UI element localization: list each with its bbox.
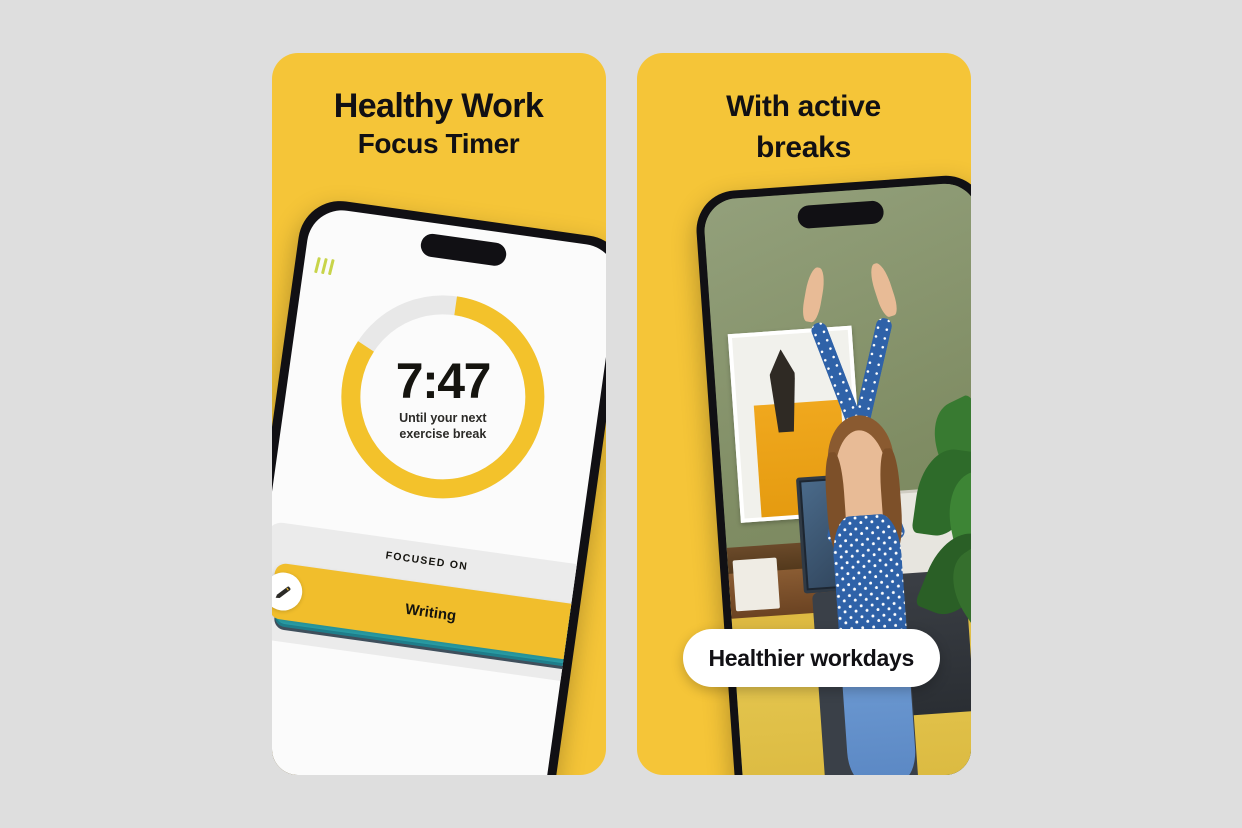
caption-text: Healthier workdays bbox=[709, 645, 915, 672]
timer-subtitle-line-1: Until your next bbox=[399, 411, 487, 426]
headline-line-2: breaks bbox=[637, 127, 971, 168]
screenshot-stage: Healthy Work Focus Timer 7:47 bbox=[0, 0, 1242, 828]
card-active-breaks[interactable]: With active breaks bbox=[637, 53, 971, 775]
focused-on-panel: FOCUSED ON Writing bbox=[272, 521, 591, 683]
headline-line-1: With active bbox=[637, 86, 971, 127]
headline-line-1: Healthy Work bbox=[272, 86, 606, 126]
card-focus-timer[interactable]: Healthy Work Focus Timer 7:47 bbox=[272, 53, 606, 775]
current-task-label: Writing bbox=[404, 600, 457, 624]
card-headline: Healthy Work Focus Timer bbox=[272, 53, 606, 163]
caption-pill: Healthier workdays bbox=[683, 629, 941, 687]
timer-ring[interactable]: 7:47 Until your next exercise break bbox=[331, 286, 553, 508]
headline-line-2: Focus Timer bbox=[272, 126, 606, 162]
desk-item bbox=[732, 557, 779, 611]
card-headline: With active breaks bbox=[637, 53, 971, 169]
timer-center: 7:47 Until your next exercise break bbox=[331, 286, 553, 508]
timer-value: 7:47 bbox=[395, 356, 489, 406]
phone-screen: 7:47 Until your next exercise break FOCU… bbox=[272, 206, 606, 775]
pencil-icon bbox=[272, 570, 305, 613]
phone-mockup-timer: 7:47 Until your next exercise break FOCU… bbox=[272, 196, 606, 775]
timer-subtitle-line-2: exercise break bbox=[399, 426, 487, 441]
tally-marks-icon bbox=[314, 257, 333, 275]
timer-subtitle: Until your next exercise break bbox=[399, 411, 487, 442]
dynamic-island bbox=[419, 232, 507, 267]
